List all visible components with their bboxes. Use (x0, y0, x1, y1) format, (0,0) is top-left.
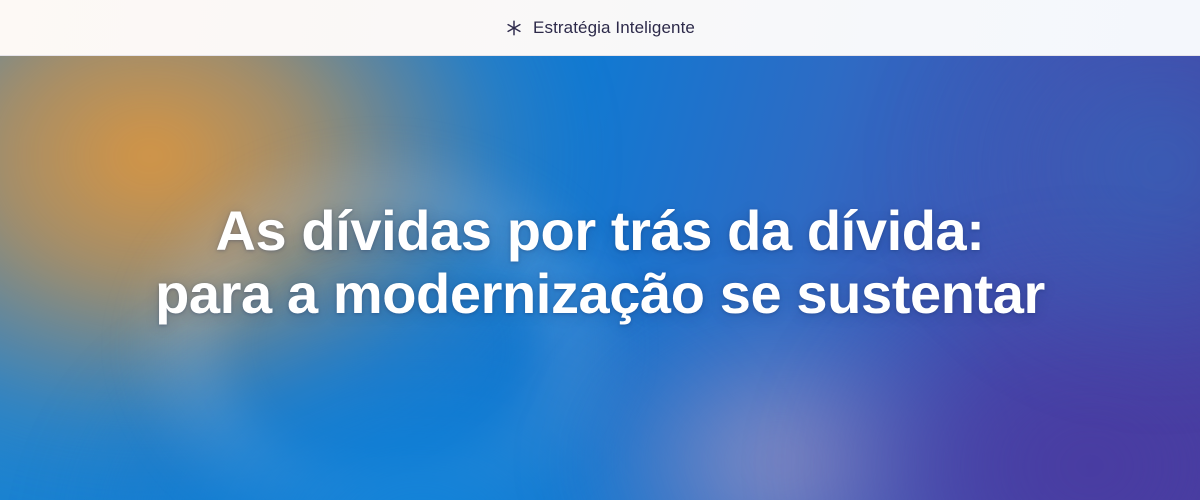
hero-content: As dívidas por trás da dívida: para a mo… (0, 56, 1200, 500)
top-bar: Estratégia Inteligente (0, 0, 1200, 56)
brand[interactable]: Estratégia Inteligente (505, 18, 695, 38)
page-root: Estratégia Inteligente As dívidas por tr… (0, 0, 1200, 500)
sparkle-asterisk-icon (505, 19, 523, 37)
brand-label: Estratégia Inteligente (533, 18, 695, 38)
hero-banner: As dívidas por trás da dívida: para a mo… (0, 56, 1200, 500)
page-title: As dívidas por trás da dívida: para a mo… (150, 199, 1050, 325)
